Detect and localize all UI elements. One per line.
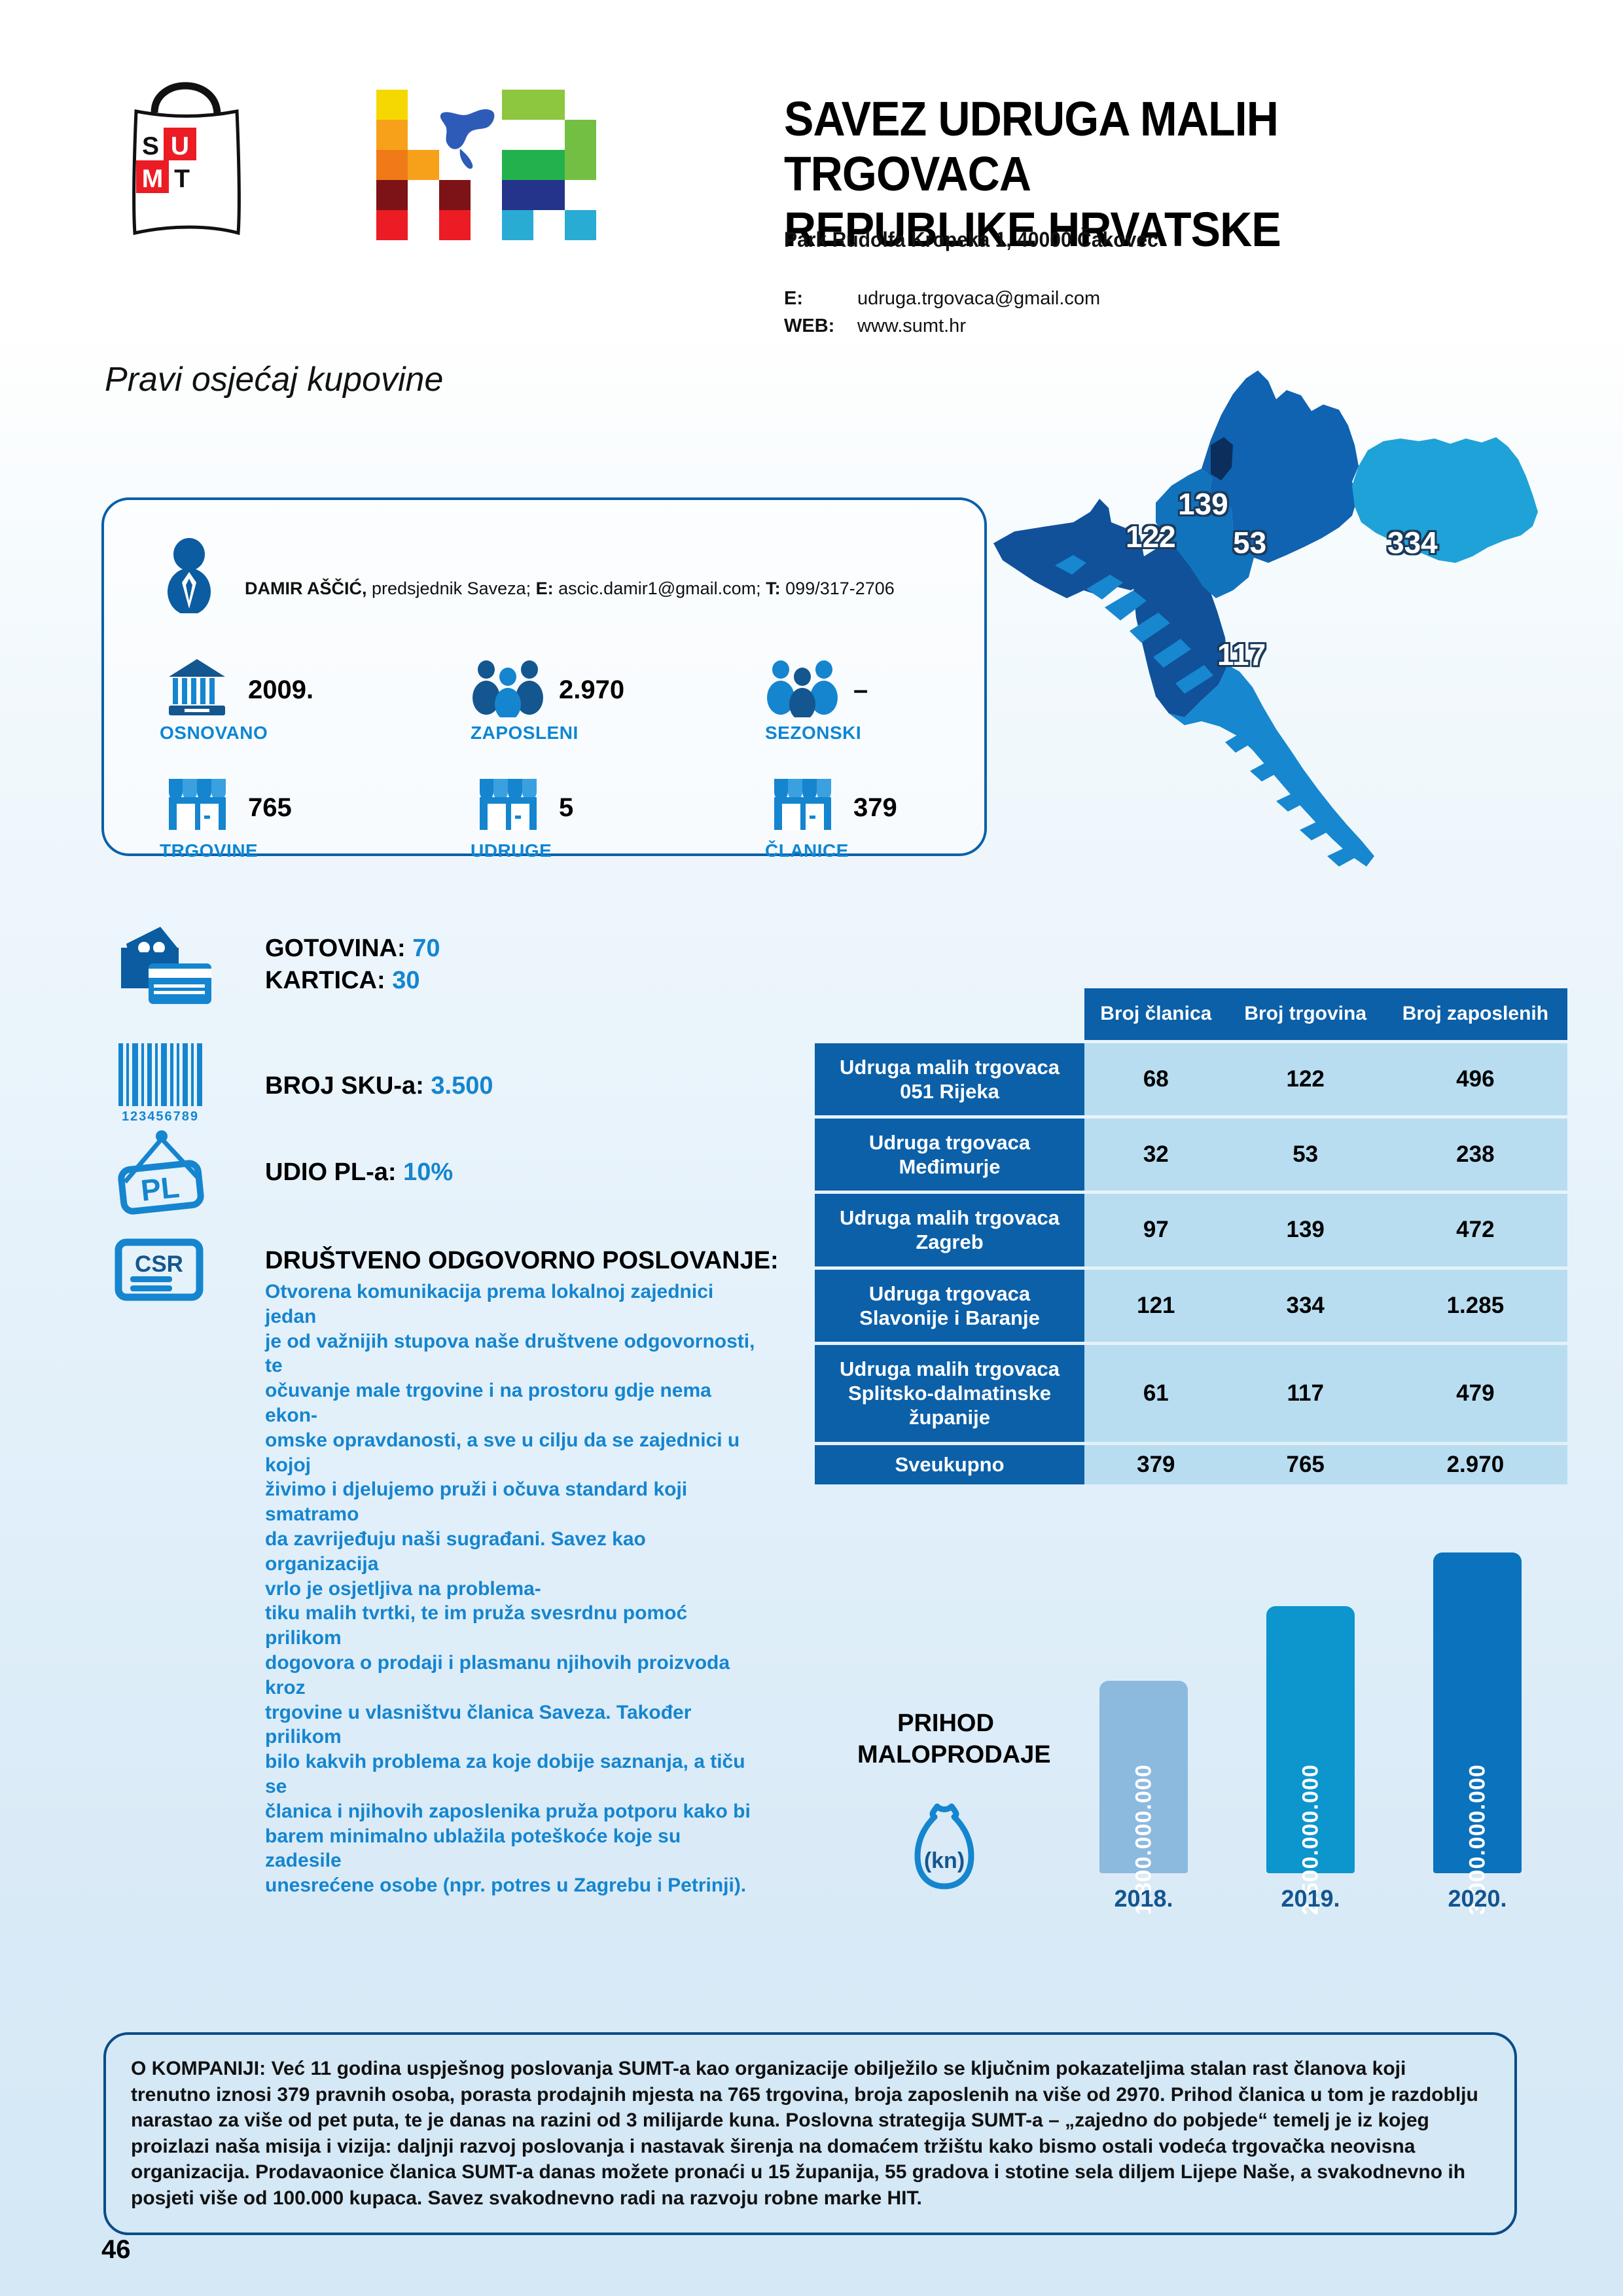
bar-category-label: 2018. xyxy=(1114,1885,1173,1912)
people-icon xyxy=(471,657,546,717)
stat-label: TRGOVINE xyxy=(160,840,258,861)
people-icon xyxy=(765,657,840,717)
map-value-dalmatia: 117 xyxy=(1217,637,1266,672)
cell-trgovina: 334 xyxy=(1228,1270,1383,1342)
metric-lines-payments: GOTOVINA: 70 KARTICA: 30 xyxy=(265,935,440,995)
col-header-clanica: Broj članica xyxy=(1084,988,1228,1040)
about-label: O KOMPANIJI: xyxy=(131,2058,266,2079)
stat-value: 5 xyxy=(559,793,573,823)
web-label: WEB: xyxy=(784,315,857,337)
cell-clanica: 32 xyxy=(1084,1119,1228,1191)
org-title-line1: SAVEZ UDRUGA MALIH TRGOVACA xyxy=(784,92,1531,202)
about-company-box: O KOMPANIJI: Već 11 godina uspješnog pos… xyxy=(103,2032,1517,2235)
col-header-zaposlenih: Broj zaposlenih xyxy=(1383,988,1567,1040)
about-text: Već 11 godina uspješnog poslovanja SUMT-… xyxy=(131,2058,1478,2209)
table: Broj članica Broj trgovina Broj zaposlen… xyxy=(815,985,1567,1488)
cell-zaposlenih: 496 xyxy=(1383,1043,1567,1115)
table-body: Udruga malih trgovaca051 Rijeka68122496U… xyxy=(815,1043,1567,1484)
cell-clanica: 97 xyxy=(1084,1194,1228,1266)
barcode-digits: 123456789 xyxy=(122,1109,199,1124)
row-header: Udruga malih trgovacaSplitsko-dalmatinsk… xyxy=(815,1345,1084,1442)
bar-category-label: 2019. xyxy=(1281,1885,1340,1912)
about-company-paragraph: O KOMPANIJI: Već 11 godina uspješnog pos… xyxy=(131,2056,1489,2212)
row-header: Udruga trgovacaMeđimurje xyxy=(815,1119,1084,1191)
table-row: Udruga trgovacaSlavonije i Baranje121334… xyxy=(815,1270,1567,1342)
sumt-letter-m: M xyxy=(142,165,164,193)
col-header-trgovina: Broj trgovina xyxy=(1228,988,1383,1040)
cell-zaposlenih: 479 xyxy=(1383,1345,1567,1442)
table-row: Udruga malih trgovacaSplitsko-dalmatinsk… xyxy=(815,1345,1567,1442)
chart-title: PRIHOD MALOPRODAJE xyxy=(857,1708,1034,1770)
metric-label: KARTICA: xyxy=(265,967,392,994)
sumt-letter-t: T xyxy=(174,165,190,193)
croatia-map-svg xyxy=(969,347,1623,890)
cell-clanica: 61 xyxy=(1084,1345,1228,1442)
table-header-row: Broj članica Broj trgovina Broj zaposlen… xyxy=(815,988,1567,1040)
person-icon xyxy=(160,538,219,613)
row-header: Udruga trgovacaSlavonije i Baranje xyxy=(815,1270,1084,1342)
table-row: Udruga malih trgovacaZagreb97139472 xyxy=(815,1194,1567,1266)
info-card: DAMIR AŠČIĆ, predsjednik Saveza; E: asci… xyxy=(101,497,987,856)
csr-title: DRUŠTVENO ODGOVORNO POSLOVANJE: xyxy=(265,1247,779,1275)
president-phone-label: T: xyxy=(766,579,781,598)
shop-icon xyxy=(471,775,546,835)
cell-clanica: 68 xyxy=(1084,1043,1228,1115)
shop-icon xyxy=(160,775,235,835)
contact-web-row: WEB: www.sumt.hr xyxy=(784,315,1100,337)
email-label: E: xyxy=(784,288,857,310)
row-header: Udruga malih trgovacaZagreb xyxy=(815,1194,1084,1266)
bar-category-label: 2020. xyxy=(1448,1885,1507,1912)
row-header: Udruga malih trgovaca051 Rijeka xyxy=(815,1043,1084,1115)
table-row: Sveukupno3797652.970 xyxy=(815,1445,1567,1484)
metric-value: 30 xyxy=(392,967,419,994)
metric-label: GOTOVINA: xyxy=(265,935,412,962)
cell-zaposlenih: 1.285 xyxy=(1383,1270,1567,1342)
stat-value: 765 xyxy=(248,793,292,823)
president-line: DAMIR AŠČIĆ, predsjednik Saveza; E: asci… xyxy=(245,579,895,599)
bar-column-2018: 1.800.000.0002018. xyxy=(1099,1681,1188,1873)
bar: 1.800.000.000 xyxy=(1099,1681,1188,1873)
money-bag-icon: (kn) xyxy=(908,1800,980,1892)
president-email-label: E: xyxy=(536,579,554,598)
stat-value: 2009. xyxy=(248,675,313,705)
cell-trgovina: 53 xyxy=(1228,1119,1383,1191)
cell-trgovina: 139 xyxy=(1228,1194,1383,1266)
sumt-letter-s: S xyxy=(142,132,159,160)
row-header: Sveukupno xyxy=(815,1445,1084,1484)
barcode-icon: 123456789 xyxy=(115,1041,206,1126)
org-address: Park Rudolfa Kropeka 1, 40000 Čakovec xyxy=(784,228,1158,252)
sumt-letter-u: U xyxy=(171,132,189,160)
pl-tag-text: PL xyxy=(139,1170,181,1208)
stat-label: ČLANICE xyxy=(765,840,849,861)
bar: 3.000.000.000 xyxy=(1433,1552,1522,1873)
map-value-slavonija: 334 xyxy=(1387,525,1438,560)
tagline: Pravi osjećaj kupovine xyxy=(105,360,443,399)
president-email[interactable]: ascic.damir1@gmail.com; xyxy=(554,579,766,598)
csr-body: Otvorena komunikacija prema lokalnoj zaj… xyxy=(265,1280,762,1898)
president-name: DAMIR AŠČIĆ, xyxy=(245,579,367,598)
president-phone[interactable]: 099/317-2706 xyxy=(781,579,895,598)
stat-value: 2.970 xyxy=(559,675,624,705)
revenue-bar-chart: PRIHOD MALOPRODAJE (kn) 1.800.000.000201… xyxy=(844,1518,1571,1911)
cell-zaposlenih: 472 xyxy=(1383,1194,1567,1266)
cell-trgovina: 765 xyxy=(1228,1445,1383,1484)
metric-value: 10% xyxy=(403,1158,453,1186)
map-value-primorsko: 122 xyxy=(1126,519,1176,554)
contact-email-row: E: udruga.trgovaca@gmail.com xyxy=(784,288,1100,310)
cell-clanica: 121 xyxy=(1084,1270,1228,1342)
table-corner-cell xyxy=(815,988,1084,1040)
map-value-medimurje: 53 xyxy=(1233,525,1266,560)
page-number: 46 xyxy=(101,2235,131,2265)
bank-icon xyxy=(160,657,235,717)
hit-logo xyxy=(376,88,625,252)
chart-unit-label: (kn) xyxy=(924,1848,965,1873)
cell-trgovina: 122 xyxy=(1228,1043,1383,1115)
metric-value: 70 xyxy=(412,935,440,962)
csr-icon-text: CSR xyxy=(135,1251,183,1277)
metric-label: BROJ SKU-a: xyxy=(265,1072,431,1100)
metric-lines-pl: UDIO PL-a: 10% xyxy=(265,1158,453,1187)
president-role: predsjednik Saveza; xyxy=(367,579,536,598)
bar-column-2020: 3.000.000.0002020. xyxy=(1433,1552,1522,1873)
bar-column-2019: 2.500.000.0002019. xyxy=(1266,1606,1355,1873)
cell-trgovina: 117 xyxy=(1228,1345,1383,1442)
shop-icon xyxy=(765,775,840,835)
cell-zaposlenih: 2.970 xyxy=(1383,1445,1567,1484)
stat-label: UDRUGE xyxy=(471,840,552,861)
cell-clanica: 379 xyxy=(1084,1445,1228,1484)
table-row: Udruga malih trgovaca051 Rijeka68122496 xyxy=(815,1043,1567,1115)
stat-label: SEZONSKI xyxy=(765,723,861,744)
associations-table: Broj članica Broj trgovina Broj zaposlen… xyxy=(815,985,1567,1488)
sumt-logo: S U M T xyxy=(98,58,272,257)
contact-block: E: udruga.trgovaca@gmail.com WEB: www.su… xyxy=(784,288,1100,343)
csr-card-icon: CSR xyxy=(115,1237,213,1309)
croatia-map: 139 122 53 334 117 xyxy=(969,347,1623,890)
web-value[interactable]: www.sumt.hr xyxy=(857,315,966,337)
map-value-zagreb: 139 xyxy=(1178,486,1228,522)
stat-value: – xyxy=(853,675,868,705)
metric-value: 3.500 xyxy=(431,1072,493,1100)
table-row: Udruga trgovacaMeđimurje3253238 xyxy=(815,1119,1567,1191)
metric-lines-sku: BROJ SKU-a: 3.500 xyxy=(265,1072,493,1100)
stat-label: ZAPOSLENI xyxy=(471,723,579,744)
wallet-card-icon xyxy=(115,916,226,1028)
stat-value: 379 xyxy=(853,793,897,823)
stat-label: OSNOVANO xyxy=(160,723,268,744)
metric-label: UDIO PL-a: xyxy=(265,1158,403,1186)
bar: 2.500.000.000 xyxy=(1266,1606,1355,1873)
cell-zaposlenih: 238 xyxy=(1383,1119,1567,1191)
map-region-slavonija xyxy=(1352,437,1538,563)
email-value[interactable]: udruga.trgovaca@gmail.com xyxy=(857,288,1100,310)
price-tag-pl-icon: PL xyxy=(115,1126,213,1217)
